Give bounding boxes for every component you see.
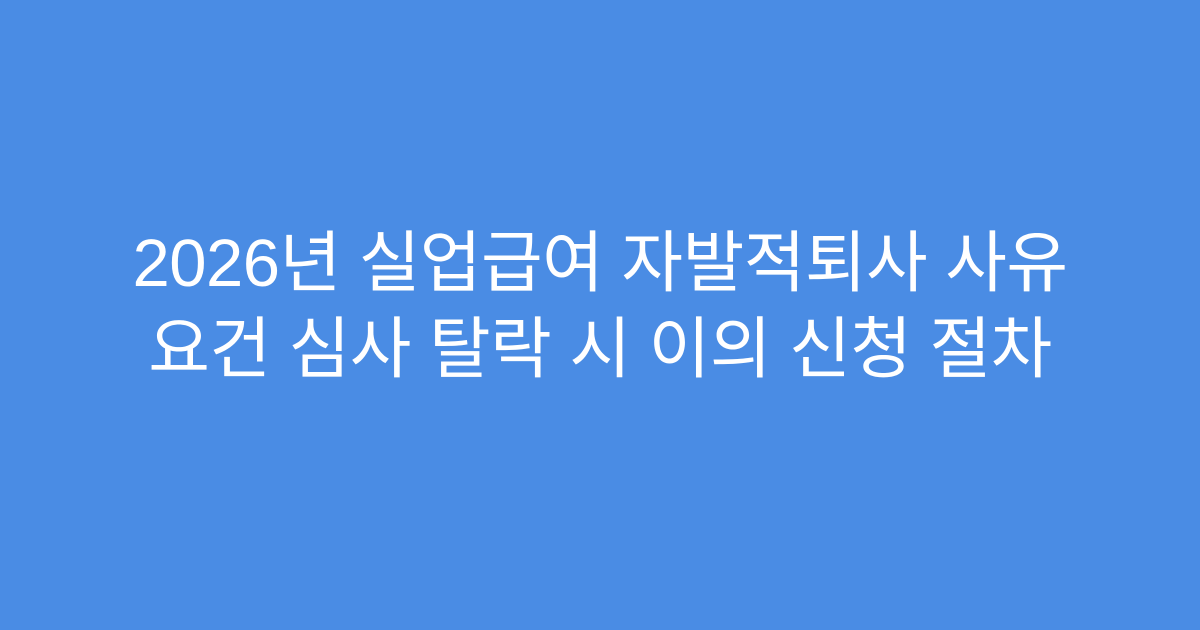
- thumbnail-card: 2026년 실업급여 자발적퇴사 사유 요건 심사 탈락 시 이의 신청 절차: [0, 0, 1200, 630]
- title-line-2: 요건 심사 탈락 시 이의 신청 절차: [70, 307, 1130, 393]
- page-title: 2026년 실업급여 자발적퇴사 사유 요건 심사 탈락 시 이의 신청 절차: [70, 221, 1130, 393]
- title-line-1: 2026년 실업급여 자발적퇴사 사유: [70, 221, 1130, 307]
